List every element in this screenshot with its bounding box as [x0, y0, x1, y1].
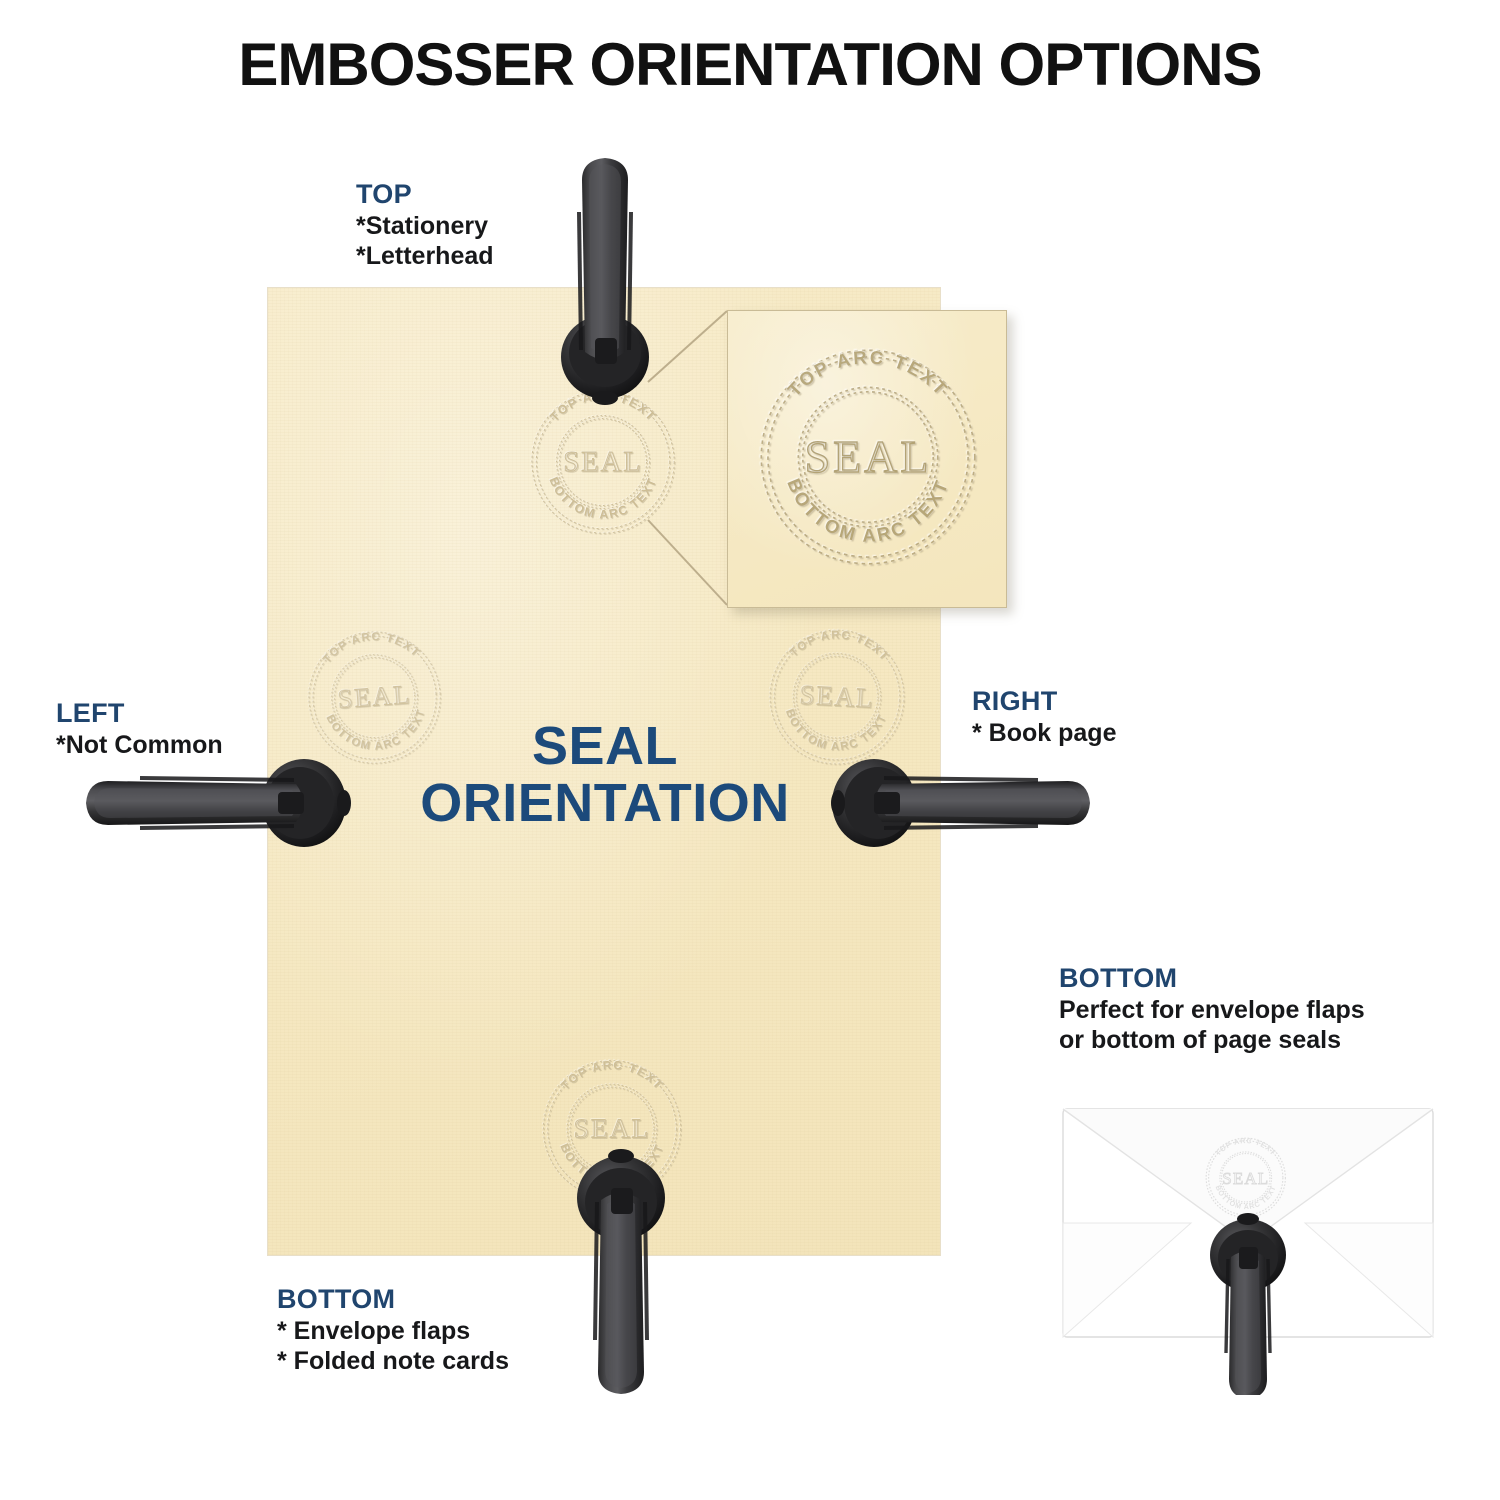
page-title: EMBOSSER ORIENTATION OPTIONS [0, 30, 1500, 99]
svg-text:TOP ARC TEXT: TOP ARC TEXT [787, 626, 893, 665]
embossed-seal-icon: TOP ARC TEXT BOTTOM ARC TEXT SEAL [742, 331, 994, 583]
envelope-icon: TOP ARC TEXT BOTTOM ARC TEXT SEAL [1059, 1105, 1439, 1395]
embosser-tool-left [82, 748, 350, 858]
svg-text:BOTTOM ARC TEXT: BOTTOM ARC TEXT [546, 475, 659, 521]
label-top-head: TOP [356, 178, 494, 211]
label-left-head: LEFT [56, 697, 223, 730]
seal-top-arc-text: TOP ARC TEXT [319, 628, 422, 667]
seal-center-text: SEAL [563, 446, 643, 478]
envelope-illustration: TOP ARC TEXT BOTTOM ARC TEXT SEAL [1059, 1105, 1439, 1369]
label-right: RIGHT * Book page [972, 685, 1116, 748]
label-bottom-left-line-2: * Folded note cards [277, 1346, 509, 1377]
center-wordmark-line1: SEAL [340, 718, 870, 775]
seal-center-text: SEAL [337, 679, 412, 714]
label-bottom-left: BOTTOM * Envelope flaps * Folded note ca… [277, 1283, 509, 1377]
label-top-line-2: *Letterhead [356, 241, 494, 272]
center-wordmark: SEAL ORIENTATION [340, 718, 870, 832]
label-bottom-right-line-2: or bottom of page seals [1059, 1025, 1365, 1056]
svg-text:TOP ARC TEXT: TOP ARC TEXT [319, 628, 422, 667]
embosser-tool-icon [82, 748, 350, 858]
label-left-line-1: *Not Common [56, 730, 223, 761]
seal-impression-magnified: TOP ARC TEXT BOTTOM ARC TEXT SEAL [742, 331, 994, 583]
magnified-seal-callout: TOP ARC TEXT BOTTOM ARC TEXT SEAL [727, 310, 1007, 608]
seal-bottom-arc-text: BOTTOM ARC TEXT [546, 475, 659, 521]
label-left: LEFT *Not Common [56, 697, 223, 760]
seal-top-arc-text: TOP ARC TEXT [787, 626, 893, 665]
label-bottom-left-head: BOTTOM [277, 1283, 509, 1316]
infographic-canvas: EMBOSSER ORIENTATION OPTIONS [0, 0, 1500, 1500]
embosser-tool-bottom [558, 1148, 684, 1398]
label-right-line-1: * Book page [972, 718, 1116, 749]
seal-center-text: SEAL [805, 431, 932, 482]
label-top-line-1: *Stationery [356, 211, 494, 242]
embosser-tool-icon [838, 748, 1092, 858]
embosser-tool-right [838, 748, 1092, 858]
label-right-head: RIGHT [972, 685, 1116, 718]
label-top: TOP *Stationery *Letterhead [356, 178, 494, 272]
seal-center-text: SEAL [1222, 1169, 1269, 1188]
label-bottom-right: BOTTOM Perfect for envelope flaps or bot… [1059, 962, 1365, 1056]
label-bottom-right-line-1: Perfect for envelope flaps [1059, 995, 1365, 1026]
embosser-tool-top [545, 152, 665, 404]
seal-center-text: SEAL [574, 1113, 651, 1144]
label-bottom-left-line-1: * Envelope flaps [277, 1316, 509, 1347]
label-bottom-right-head: BOTTOM [1059, 962, 1365, 995]
embosser-tool-icon [545, 152, 665, 404]
seal-center-text: SEAL [799, 679, 875, 713]
embosser-tool-icon [558, 1148, 684, 1398]
center-wordmark-line2: ORIENTATION [340, 775, 870, 832]
